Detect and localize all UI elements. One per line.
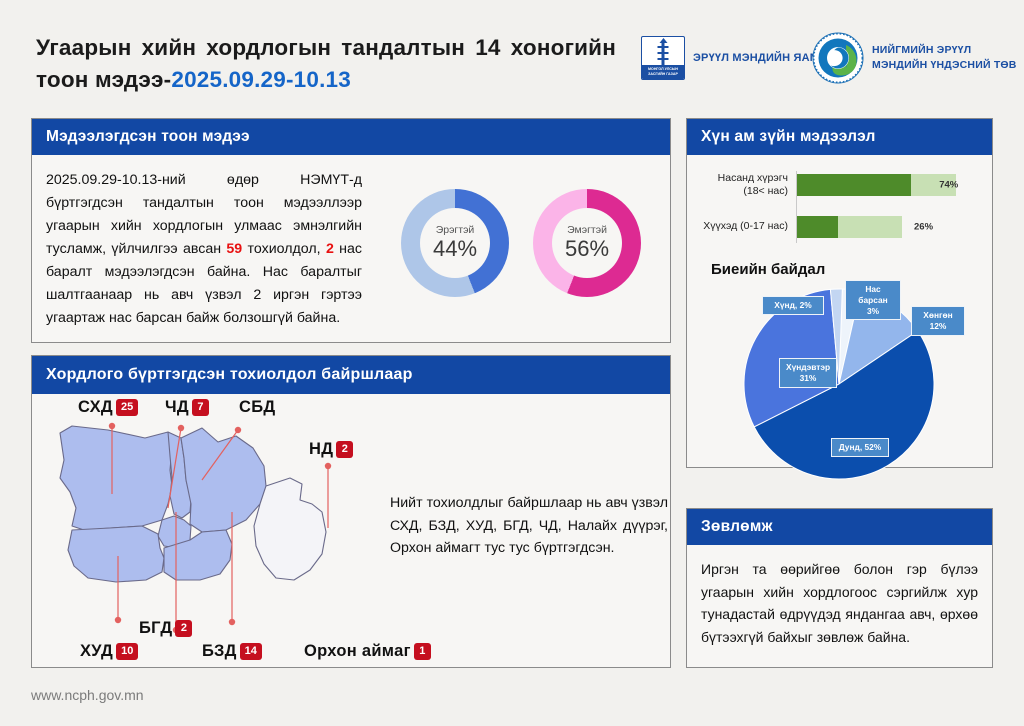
ministry-of-health-logo: МОНГОЛ УЛСЫН ЗАСГИЙН ГАЗАР ЭРҮҮЛ МЭНДИЙН…: [641, 36, 819, 80]
female-donut-center: Эмэгтэй 56%: [552, 208, 622, 278]
male-donut-label: Эрэгтэй: [436, 225, 475, 236]
bar-fill-adult: [796, 174, 911, 196]
bar-track-adult: 74%: [796, 174, 956, 196]
recommendation-panel: Зөвлөмж Иргэн та өөрийгөө болон гэр бүлэ…: [686, 508, 993, 668]
map-label-bgd-name: БГД: [139, 619, 172, 638]
pie-callout-moderate-severe: Хүндэвтэр 31%: [779, 358, 837, 388]
map-label-khud-count: 10: [116, 643, 138, 660]
map-label-skhd: СХД 25: [78, 398, 138, 417]
demographics-panel: Хүн ам зүйн мэдээлэл Насанд хүрэгч (18< …: [686, 118, 993, 468]
bar-value-child: 26%: [914, 222, 933, 233]
map-panel: Хордлого бүртгэгдсэн тохиолдол байршлаар: [31, 355, 671, 668]
footer-url: www.ncph.gov.mn: [31, 687, 144, 703]
summary-panel-body: 2025.09.29-10.13-ний өдөр НЭМҮТ-д бүртгэ…: [32, 155, 670, 338]
map-panel-heading: Хордлого бүртгэгдсэн тохиолдол байршлаар: [32, 356, 670, 394]
recommendation-panel-heading: Зөвлөмж: [687, 509, 992, 545]
map-label-nd-name: НД: [309, 440, 333, 459]
infographic-page: Угаарын хийн хордлогын тандалтын 14 хоно…: [0, 0, 1024, 726]
bar-fill-child: [796, 216, 838, 238]
map-label-chd-name: ЧД: [165, 398, 189, 417]
map-label-orkhon-count: 1: [414, 643, 431, 660]
summary-panel: Мэдээлэгдсэн тоон мэдээ 2025.09.29-10.13…: [31, 118, 671, 343]
age-bar-chart: Насанд хүрэгч (18< нас) 74% Хүүхэд (0-17…: [697, 169, 980, 243]
female-donut-chart: Эмэгтэй 56%: [533, 189, 641, 297]
bar-label-child: Хүүхэд (0-17 нас): [701, 220, 796, 233]
bar-row-child: Хүүхэд (0-17 нас) 26%: [701, 211, 980, 243]
page-title-date: 2025.09.29-10.13: [171, 67, 351, 92]
male-donut-value: 44%: [433, 238, 477, 260]
map-label-khud-name: ХУД: [80, 642, 113, 661]
map-label-bgd: БГД 2: [139, 619, 192, 638]
bar-value-adult: 74%: [939, 180, 958, 191]
demographics-panel-body: Насанд хүрэгч (18< нас) 74% Хүүхэд (0-17…: [687, 155, 992, 493]
map-label-bzd: БЗД 14: [202, 642, 262, 661]
page-header: Угаарын хийн хордлогын тандалтын 14 хоно…: [0, 0, 1024, 110]
map-note-text: Нийт тохиолдлыг байршлаар нь авч үзвэл С…: [390, 492, 668, 560]
map-label-chd: ЧД 7: [165, 398, 209, 417]
map-label-bzd-name: БЗД: [202, 642, 237, 661]
bar-label-adult: Насанд хүрэгч (18< нас): [701, 172, 796, 198]
map-panel-body: СХД 25 ЧД 7 СБД НД 2 БГД 2 ХУД 10: [32, 394, 670, 664]
map-label-sbd: СБД: [239, 398, 275, 417]
map-label-sbd-name: СБД: [239, 398, 275, 417]
male-donut-chart: Эрэгтэй 44%: [401, 189, 509, 297]
female-donut-label: Эмэгтэй: [567, 225, 607, 236]
summary-text: 2025.09.29-10.13-ний өдөр НЭМҮТ-д бүртгэ…: [32, 155, 372, 338]
female-donut-value: 56%: [565, 238, 609, 260]
mongolia-state-emblem-icon: МОНГОЛ УЛСЫН ЗАСГИЙН ГАЗАР: [641, 36, 685, 80]
state-emblem-caption: МОНГОЛ УЛСЫН ЗАСГИЙН ГАЗАР: [642, 65, 684, 79]
bar-row-adult: Насанд хүрэгч (18< нас) 74%: [701, 169, 980, 201]
ncph-name: НИЙГМИЙН ЭРҮҮЛ МЭНДИЙН ҮНДЭСНИЙ ТӨВ: [872, 43, 1024, 72]
demographics-panel-heading: Хүн ам зүйн мэдээлэл: [687, 119, 992, 155]
ministry-of-health-name: ЭРҮҮЛ МЭНДИЙН ЯАМ: [693, 51, 819, 66]
condition-pie-chart: Хүнд, 2% Нас барсан 3% Хөнгөн 12% Хүндэв…: [697, 278, 980, 493]
recommendation-text: Иргэн та өөрийгөө болон гэр бүлээ угаары…: [687, 545, 992, 649]
summary-deaths-count: 2: [326, 241, 334, 257]
map-label-khud: ХУД 10: [80, 642, 138, 661]
summary-text-part2: тохиолдол,: [242, 241, 326, 257]
summary-cases-count: 59: [226, 241, 242, 257]
bar-track-child: 26%: [796, 216, 902, 238]
pie-callout-mild: Хөнгөн 12%: [911, 306, 965, 336]
pie-callout-severe: Хүнд, 2%: [762, 296, 824, 315]
ncph-emblem-icon: [812, 32, 864, 84]
pie-callout-moderate: Дунд, 52%: [831, 438, 889, 457]
gender-donut-charts: Эрэгтэй 44% Эмэгтэй 56%: [372, 155, 670, 338]
map-label-nd: НД 2: [309, 440, 353, 459]
page-title: Угаарын хийн хордлогын тандалтын 14 хоно…: [36, 32, 616, 96]
summary-panel-heading: Мэдээлэгдсэн тоон мэдээ: [32, 119, 670, 155]
map-label-skhd-name: СХД: [78, 398, 113, 417]
map-label-chd-count: 7: [192, 399, 209, 416]
map-label-bzd-count: 14: [240, 643, 262, 660]
pie-callout-deceased: Нас барсан 3%: [845, 280, 901, 320]
map-label-nd-count: 2: [336, 441, 353, 458]
ncph-logo: НИЙГМИЙН ЭРҮҮЛ МЭНДИЙН ҮНДЭСНИЙ ТӨВ: [812, 32, 1024, 84]
map-label-orkhon: Орхон аймаг 1: [304, 642, 431, 661]
map-label-orkhon-name: Орхон аймаг: [304, 642, 411, 661]
male-donut-center: Эрэгтэй 44%: [420, 208, 490, 278]
map-label-bgd-count: 2: [175, 620, 192, 637]
map-label-skhd-count: 25: [116, 399, 138, 416]
